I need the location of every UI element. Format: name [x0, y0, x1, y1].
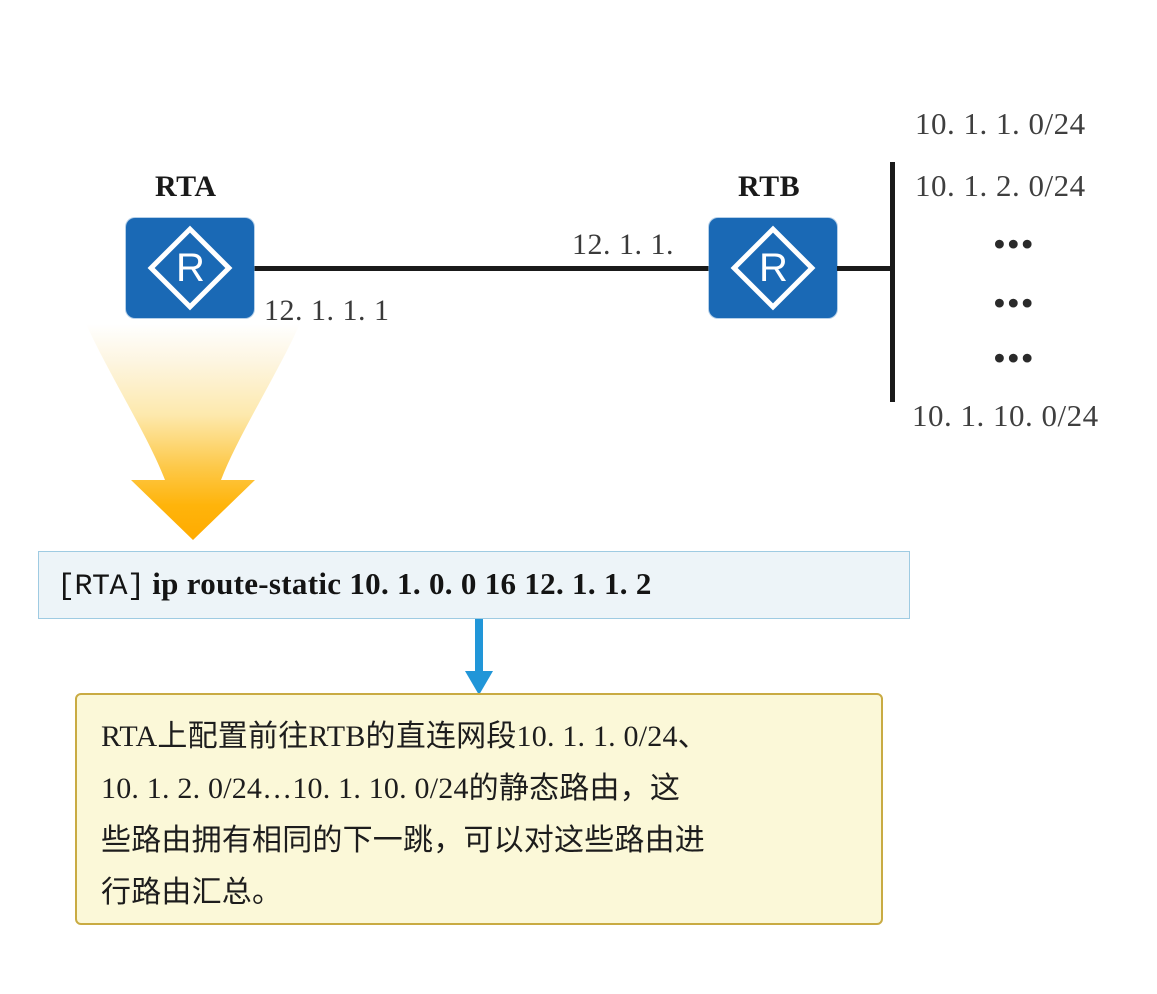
note-line-1: 10. 1. 2. 0/24…10. 1. 10. 0/24的静态路由，这 [101, 763, 855, 815]
router-glyph-r: R [126, 218, 254, 318]
network-item-3-ellipsis: ••• [994, 285, 1036, 321]
network-item-2-ellipsis: ••• [994, 226, 1036, 262]
network-item-4-ellipsis: ••• [994, 340, 1036, 376]
command-box: [RTA] ip route-static 10. 1. 0. 0 16 12.… [38, 551, 910, 619]
network-item-0: 10. 1. 1. 0/24 [915, 106, 1086, 142]
blue-down-arrow-icon [462, 619, 496, 695]
router-glyph-r: R [709, 218, 837, 318]
ip-label-rtb-interface: 12. 1. 1. [572, 228, 674, 262]
command-text: [RTA] ip route-static 10. 1. 0. 0 16 12.… [57, 566, 652, 604]
explanation-note-box: RTA上配置前往RTB的直连网段10. 1. 1. 0/24、 10. 1. 2… [75, 693, 883, 925]
note-line-2: 些路由拥有相同的下一跳，可以对这些路由进 [101, 815, 855, 867]
device-label-rta: RTA [155, 170, 217, 204]
orange-down-arrow-icon [78, 318, 308, 543]
note-line-0: RTA上配置前往RTB的直连网段10. 1. 1. 0/24、 [101, 711, 855, 763]
network-item-5: 10. 1. 10. 0/24 [912, 398, 1099, 434]
lan-bus-bar [890, 162, 895, 402]
router-rta[interactable]: R [126, 218, 254, 318]
link-rtb-lan [837, 266, 895, 271]
router-rtb[interactable]: R [709, 218, 837, 318]
command-prompt: [RTA] [57, 570, 145, 604]
command-body: ip route-static 10. 1. 0. 0 16 12. 1. 1.… [152, 566, 651, 601]
note-line-3: 行路由汇总。 [101, 867, 855, 919]
device-label-rtb: RTB [738, 170, 800, 204]
network-item-1: 10. 1. 2. 0/24 [915, 168, 1086, 204]
diagram-canvas: RTA R 12. 1. 1. 1 RTB 12. 1. 1. R 10. 1.… [0, 0, 1157, 994]
link-rta-rtb [252, 266, 712, 271]
